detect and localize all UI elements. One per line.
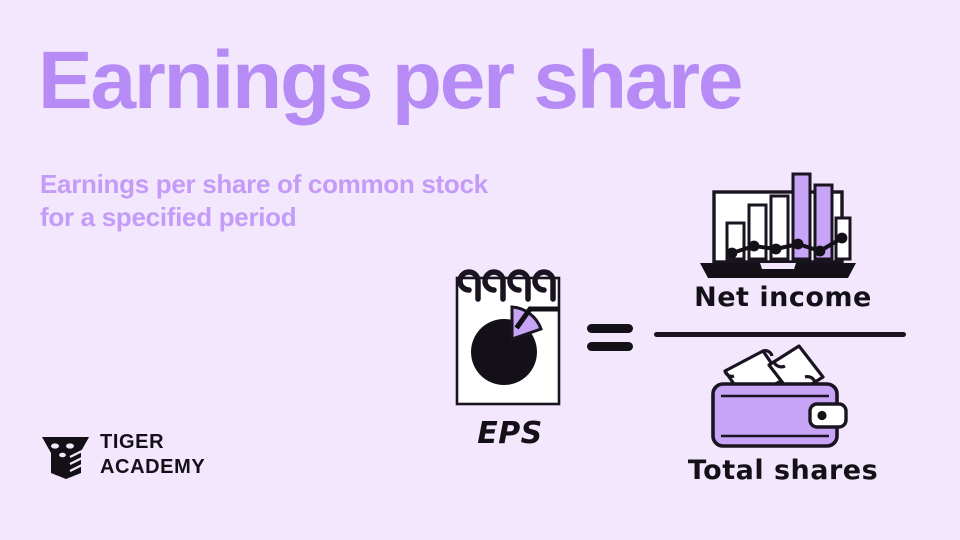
eps-result-group: EPS	[440, 258, 580, 458]
wallet-cash-icon	[703, 344, 853, 450]
numerator-label: Net income	[648, 282, 918, 313]
notepad-pie-chart-icon	[452, 264, 564, 412]
equals-sign-icon	[583, 318, 637, 358]
laptop-bar-chart-icon	[696, 170, 860, 282]
page-title: Earnings per share	[38, 38, 918, 124]
tiger-triangle-mark-icon	[40, 433, 92, 481]
brand-line-2: ACADEMY	[100, 455, 205, 480]
slide-canvas: Earnings per share Earnings per share of…	[0, 0, 960, 540]
denominator-label: Total shares	[648, 455, 918, 486]
fraction-bar	[654, 332, 906, 337]
fraction-group: Net income Total shares	[648, 170, 918, 500]
brand-name: TIGER ACADEMY	[100, 430, 205, 480]
eps-label: EPS	[440, 416, 580, 451]
brand-logo: TIGER ACADEMY	[40, 430, 210, 488]
brand-line-1: TIGER	[100, 430, 205, 455]
page-subtitle: Earnings per share of common stock for a…	[40, 168, 510, 234]
